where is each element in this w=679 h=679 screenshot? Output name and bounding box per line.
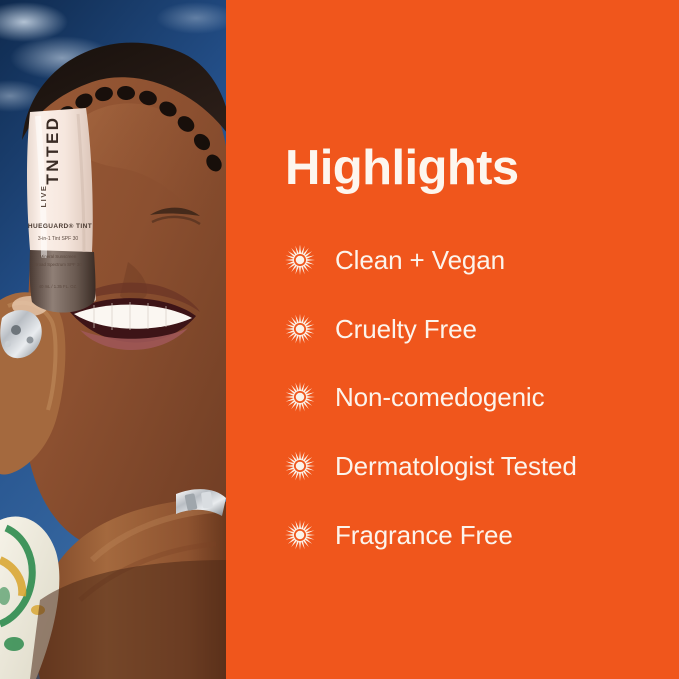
list-item-label: Fragrance Free xyxy=(335,520,513,550)
svg-text:TNTED: TNTED xyxy=(43,115,62,184)
svg-text:3-in-1 Tint SPF 30: 3-in-1 Tint SPF 30 xyxy=(38,236,79,242)
list-item-label: Non-comedogenic xyxy=(335,382,545,412)
svg-text:HUEGUARD® TINT: HUEGUARD® TINT xyxy=(28,222,92,230)
highlights-list: Clean + Vegan xyxy=(284,226,664,569)
list-item-label: Dermatologist Tested xyxy=(335,451,577,481)
svg-text:LIVE: LIVE xyxy=(39,184,48,207)
svg-text:Broad Spectrum SPF 30: Broad Spectrum SPF 30 xyxy=(34,262,82,267)
sunburst-icon xyxy=(284,381,316,413)
list-item: Clean + Vegan xyxy=(284,226,664,295)
list-item-label: Clean + Vegan xyxy=(335,245,505,275)
sunburst-icon xyxy=(284,519,316,551)
sunburst-icon xyxy=(284,450,316,482)
photo-illustration: TNTED LIVE HUEGUARD® TINT 3-in-1 Tint SP… xyxy=(0,0,226,679)
list-item: Dermatologist Tested xyxy=(284,432,664,501)
svg-text:40 mL / 1.35 FL. OZ.: 40 mL / 1.35 FL. OZ. xyxy=(39,284,77,289)
product-lifestyle-photo: TNTED LIVE HUEGUARD® TINT 3-in-1 Tint SP… xyxy=(0,0,226,679)
list-item: Fragrance Free xyxy=(284,500,664,569)
svg-text:Mineral Sunscreen: Mineral Sunscreen xyxy=(40,254,77,259)
list-item: Cruelty Free xyxy=(284,295,664,364)
list-item: Non-comedogenic xyxy=(284,363,664,432)
list-item-label: Cruelty Free xyxy=(335,314,477,344)
sunburst-icon xyxy=(284,313,316,345)
highlights-panel: Highlights xyxy=(226,0,679,679)
sunburst-icon xyxy=(284,244,316,276)
product-highlights-banner: TNTED LIVE HUEGUARD® TINT 3-in-1 Tint SP… xyxy=(0,0,679,679)
page-title: Highlights xyxy=(285,140,519,196)
product-tube: TNTED LIVE HUEGUARD® TINT 3-in-1 Tint SP… xyxy=(27,108,96,313)
